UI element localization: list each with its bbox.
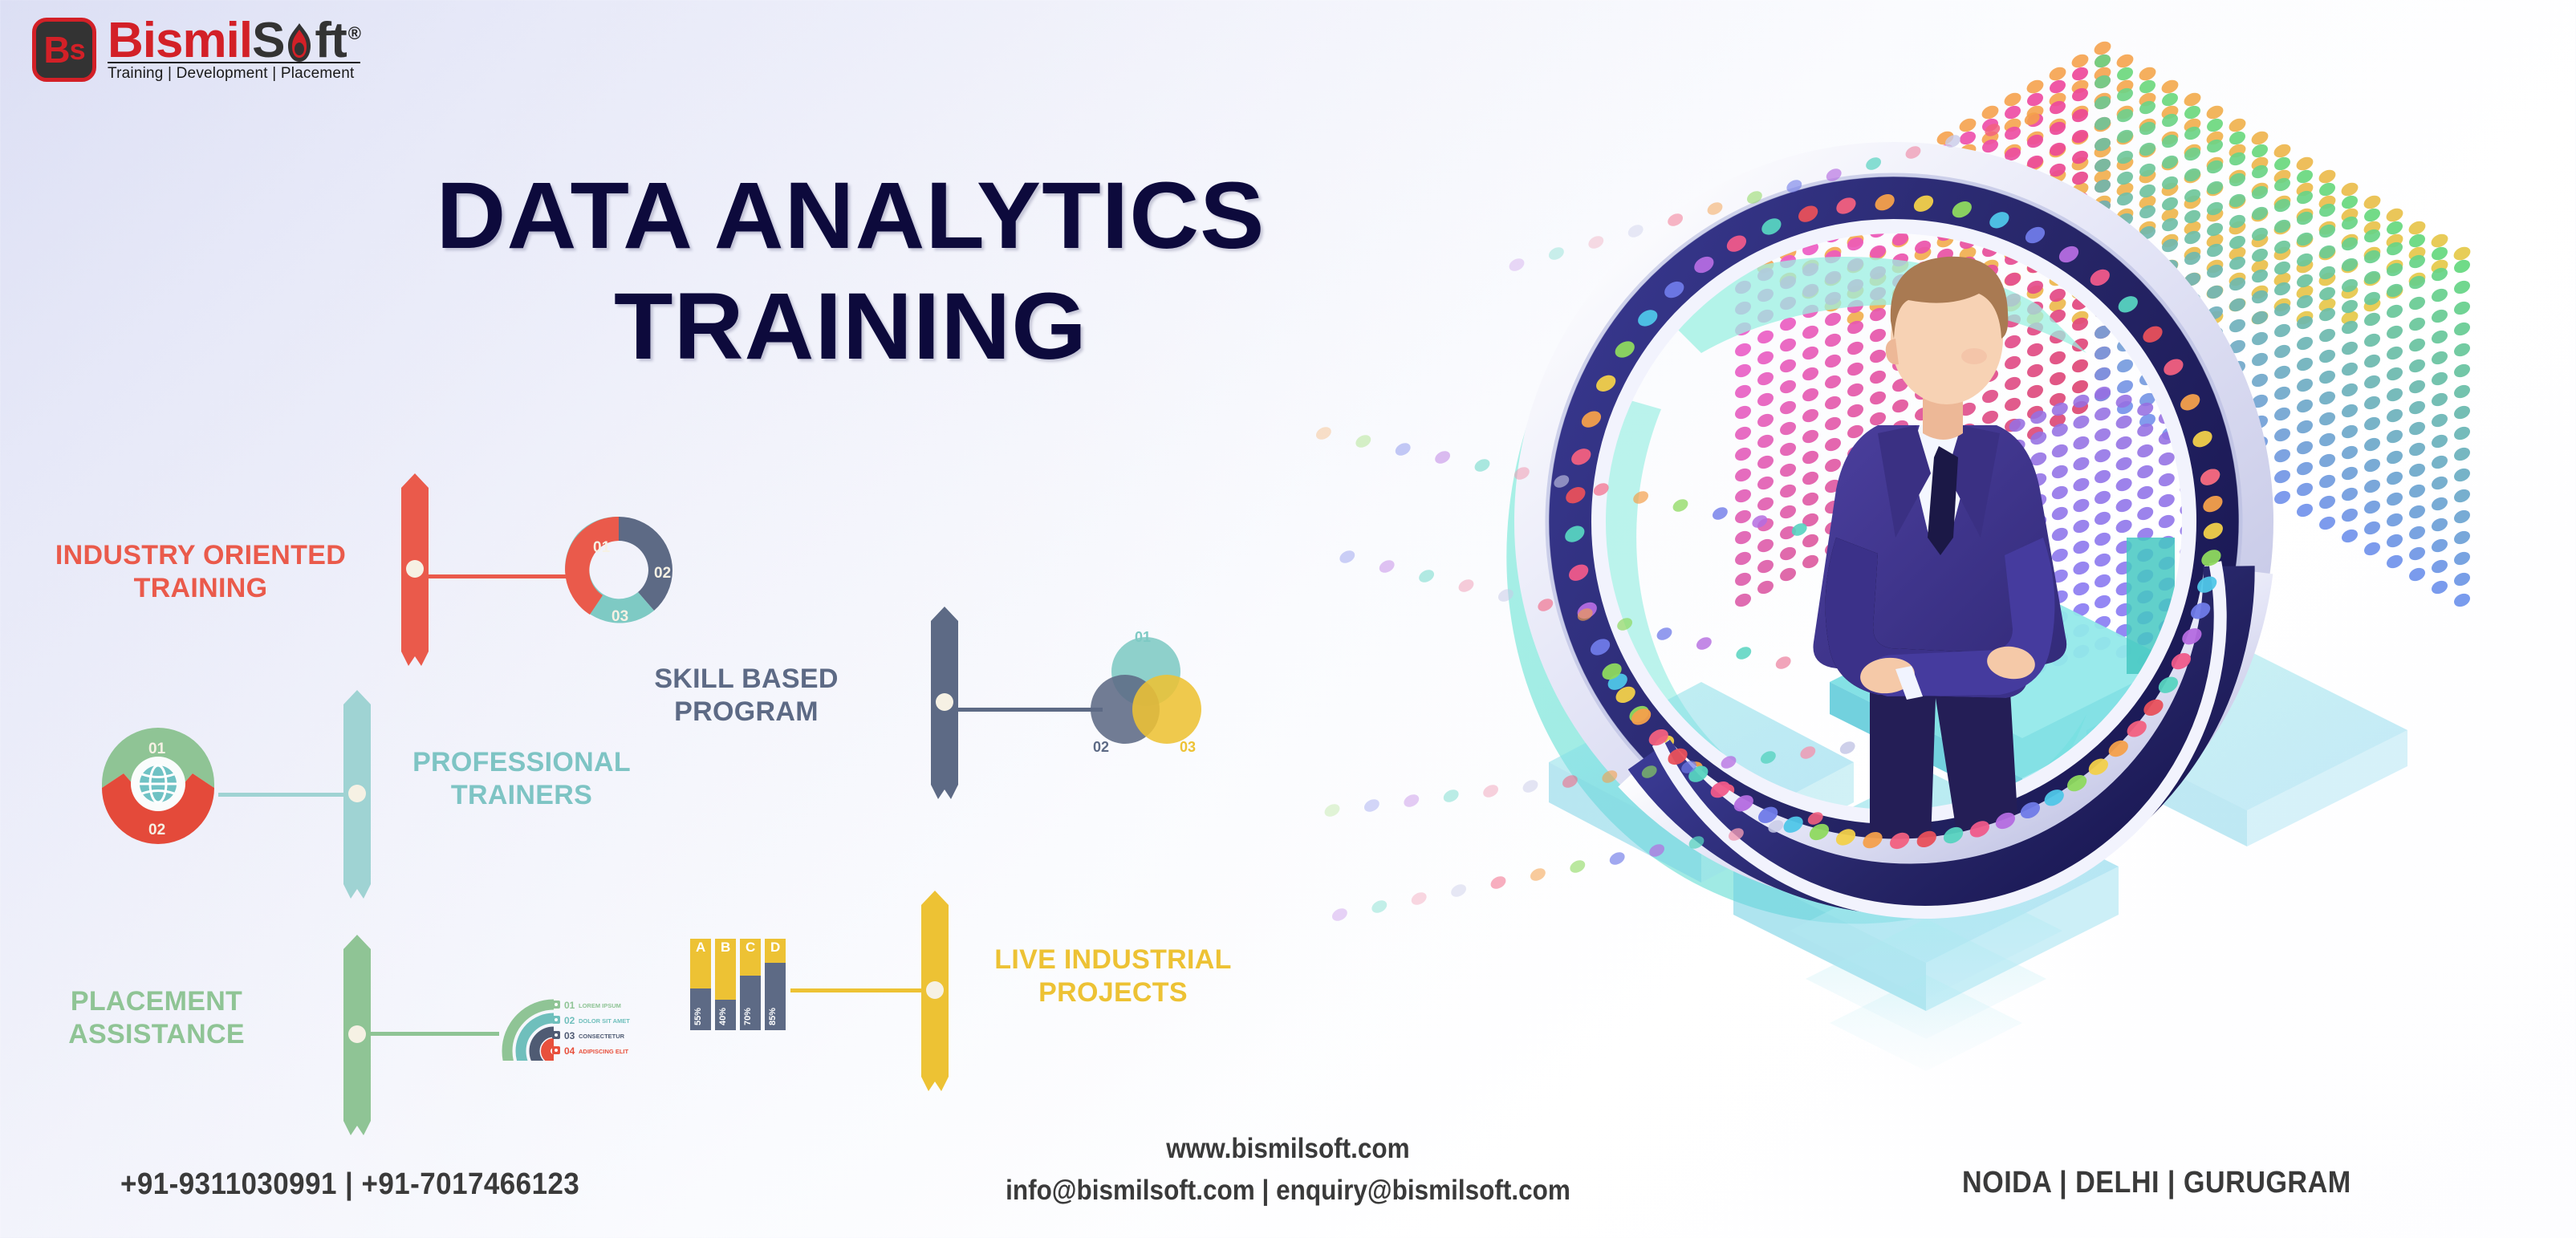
decorative-dot bbox=[2092, 489, 2112, 507]
decorative-dot bbox=[1733, 591, 1753, 610]
decorative-dot bbox=[1800, 449, 1820, 467]
decorative-dot bbox=[2317, 493, 2337, 512]
decorative-dot bbox=[1755, 432, 1775, 451]
spiral-donut-chart: 01 02 03 bbox=[555, 507, 682, 638]
decorative-dot bbox=[1473, 457, 1492, 474]
decorative-dot bbox=[2002, 396, 2022, 414]
decorative-dot bbox=[1393, 440, 1412, 458]
decorative-dot bbox=[1448, 882, 1468, 899]
decorative-dot bbox=[1316, 424, 1334, 442]
decorative-dot bbox=[2071, 497, 2091, 515]
decorative-dot bbox=[2204, 116, 2225, 135]
arc-legend-num-02: 02 bbox=[564, 1015, 575, 1026]
connector-line-placement bbox=[371, 1032, 499, 1036]
footer-phone[interactable]: +91-9311030991 | +91-7017466123 bbox=[120, 1167, 579, 1202]
decorative-dot bbox=[2362, 373, 2382, 392]
decorative-dot bbox=[2092, 572, 2112, 591]
decorative-dot bbox=[2050, 505, 2070, 523]
decorative-dot bbox=[2452, 550, 2472, 568]
decorative-dot bbox=[2384, 323, 2404, 342]
decorative-dot bbox=[2160, 77, 2180, 95]
decorative-dot bbox=[2339, 506, 2359, 525]
decorative-dot bbox=[2294, 335, 2314, 353]
brand-logo[interactable]: Bs BismilS ft® Training | Development | … bbox=[32, 18, 360, 83]
decorative-dot bbox=[2452, 299, 2472, 318]
decorative-dot bbox=[1323, 802, 1342, 819]
decorative-dot bbox=[2092, 530, 2112, 549]
decorative-dot bbox=[2407, 482, 2427, 501]
decorative-dot bbox=[2362, 477, 2382, 496]
decorative-dot bbox=[2204, 103, 2225, 121]
connector-line-skill bbox=[958, 708, 1103, 712]
decorative-dot bbox=[1587, 233, 1606, 251]
decorative-dot bbox=[2025, 362, 2045, 380]
decorative-dot bbox=[2429, 474, 2449, 493]
decorative-dot bbox=[2317, 327, 2337, 345]
banner-root: Bs BismilS ft® Training | Development | … bbox=[0, 0, 2576, 1238]
decorative-dot bbox=[2025, 341, 2045, 359]
decorative-dot bbox=[2092, 593, 2112, 611]
decorative-dot bbox=[1800, 323, 1820, 342]
decorative-dot bbox=[2071, 559, 2091, 578]
decorative-dot bbox=[1655, 625, 1674, 643]
decorative-dot bbox=[2452, 404, 2472, 422]
decorative-dot bbox=[2384, 344, 2404, 363]
decorative-dot bbox=[2272, 155, 2292, 173]
decorative-dot bbox=[2407, 503, 2427, 522]
decorative-dot bbox=[2092, 447, 2112, 465]
feature-label-line2: PROGRAM bbox=[610, 696, 883, 729]
decorative-dot bbox=[2002, 375, 2022, 393]
decorative-dot bbox=[2114, 455, 2134, 473]
ring-label-01: 01 bbox=[148, 741, 166, 757]
decorative-dot bbox=[2114, 413, 2134, 432]
decorative-dot bbox=[2160, 91, 2180, 109]
bar-label-D: D bbox=[770, 940, 780, 955]
decorative-dot bbox=[1800, 490, 1820, 509]
decorative-dot bbox=[2249, 128, 2270, 147]
decorative-dot bbox=[1432, 449, 1452, 466]
decorative-dot bbox=[2050, 463, 2070, 481]
decorative-dot bbox=[1377, 558, 1396, 575]
marker-industry-oriented-training[interactable] bbox=[401, 473, 429, 666]
decorative-dot bbox=[1441, 787, 1461, 805]
decorative-dot bbox=[2407, 378, 2427, 396]
decorative-dot bbox=[2384, 449, 2404, 467]
feature-label-placement-assistance: PLACEMENT ASSISTANCE bbox=[32, 985, 281, 1052]
decorative-dot bbox=[1778, 378, 1798, 396]
decorative-dot bbox=[2429, 286, 2449, 305]
decorative-dot bbox=[1845, 381, 1865, 400]
feature-label-line1: LIVE INDUSTRIAL bbox=[965, 944, 1262, 976]
marker-professional-trainers[interactable] bbox=[343, 690, 371, 899]
decorative-dot bbox=[1755, 349, 1775, 367]
decorative-dot bbox=[2429, 495, 2449, 513]
decorative-dot bbox=[1980, 408, 2000, 427]
decorative-dot bbox=[2362, 415, 2382, 433]
decorative-dot bbox=[2384, 553, 2404, 571]
decorative-dot bbox=[2362, 519, 2382, 538]
feature-label-line2: PROJECTS bbox=[965, 976, 1262, 1009]
decorative-dot bbox=[1822, 436, 1843, 454]
decorative-dot bbox=[2050, 442, 2070, 461]
decorative-dot bbox=[2092, 426, 2112, 444]
bar-value-C: 70% bbox=[743, 1008, 753, 1025]
decorative-dot bbox=[2227, 116, 2248, 134]
decorative-dot bbox=[2272, 447, 2292, 465]
decorative-dot bbox=[1733, 487, 1753, 505]
decorative-dot bbox=[2407, 420, 2427, 438]
decorative-dot bbox=[1800, 553, 1820, 571]
donut-label-03: 03 bbox=[611, 608, 628, 625]
marker-dot-icon bbox=[926, 981, 944, 999]
ring-label-02: 02 bbox=[148, 822, 165, 838]
decorative-dot bbox=[1822, 394, 1843, 412]
decorative-dot bbox=[1694, 635, 1713, 652]
logo-wordmark: BismilS ft® Training | Development | Pla… bbox=[108, 18, 360, 83]
decorative-dot bbox=[2071, 455, 2091, 473]
decorative-dot bbox=[1734, 644, 1753, 662]
concentric-arc-chart: 01 LOREM IPSUM 02 DOLOR SIT AMET 03 CONS… bbox=[499, 956, 645, 1065]
decorative-dot bbox=[2092, 405, 2112, 424]
decorative-dot bbox=[2429, 412, 2449, 430]
decorative-dot bbox=[2407, 399, 2427, 417]
venn-label-02: 02 bbox=[1093, 739, 1109, 755]
decorative-dot bbox=[2025, 383, 2045, 401]
decorative-dot bbox=[1845, 360, 1865, 379]
decorative-dot bbox=[2339, 444, 2359, 462]
arc-legend-label-04: ADIPISCING ELIT bbox=[579, 1048, 629, 1055]
decorative-dot bbox=[2114, 518, 2134, 536]
decorative-dot bbox=[2317, 181, 2337, 199]
decorative-dot bbox=[2384, 532, 2404, 550]
decorative-dot bbox=[2002, 333, 2022, 351]
logo-mark-s: s bbox=[70, 33, 85, 67]
decorative-dot bbox=[2047, 64, 2068, 83]
decorative-dot bbox=[1755, 412, 1775, 430]
title-line-2: TRAINING bbox=[368, 279, 1334, 374]
decorative-dot bbox=[1755, 328, 1775, 347]
decorative-dot bbox=[1528, 866, 1547, 883]
page-title: DATA ANALYTICS TRAINING bbox=[377, 168, 1324, 374]
decorative-dot bbox=[2272, 384, 2292, 403]
decorative-dot bbox=[2115, 65, 2135, 83]
decorative-dot bbox=[2429, 391, 2449, 409]
decorative-dot bbox=[2092, 468, 2112, 486]
decorative-dot bbox=[1489, 874, 1508, 891]
decorative-dot bbox=[2272, 322, 2292, 340]
decorative-dot bbox=[2115, 51, 2135, 70]
decorative-dot bbox=[2114, 497, 2134, 515]
decorative-dot bbox=[1568, 858, 1587, 875]
decorative-dot bbox=[1778, 503, 1798, 522]
decorative-dot bbox=[2362, 193, 2383, 211]
decorative-dot bbox=[2339, 423, 2359, 441]
decorative-dot bbox=[1957, 116, 1978, 134]
decorative-dot bbox=[2092, 39, 2113, 57]
decorative-dot bbox=[2137, 78, 2157, 96]
bar-label-C: C bbox=[746, 940, 755, 955]
decorative-dot bbox=[2070, 378, 2090, 396]
decorative-dot bbox=[2317, 347, 2337, 366]
decorative-dot bbox=[2272, 363, 2292, 382]
decorative-dot bbox=[1800, 386, 1820, 404]
decorative-dot bbox=[2384, 302, 2404, 321]
logo-word-ft: ft bbox=[315, 13, 346, 68]
decorative-dot bbox=[2362, 457, 2382, 475]
venn-label-03: 03 bbox=[1180, 739, 1196, 755]
decorative-dot bbox=[2025, 77, 2046, 95]
decorative-dot bbox=[2249, 309, 2269, 327]
marker-skill-based-program[interactable] bbox=[931, 607, 958, 799]
marker-placement-assistance[interactable] bbox=[343, 935, 371, 1135]
decorative-dot bbox=[1957, 129, 1977, 148]
marker-dot-icon bbox=[348, 785, 366, 802]
decorative-dot bbox=[2227, 296, 2247, 315]
decorative-dot bbox=[2317, 514, 2337, 533]
venn-label-01: 01 bbox=[1135, 629, 1151, 645]
decorative-dot bbox=[2071, 538, 2091, 557]
decorative-dot bbox=[2407, 315, 2427, 334]
decorative-dot bbox=[2339, 360, 2359, 379]
donut-label-02: 02 bbox=[654, 565, 671, 582]
feature-label-industry-oriented-training: INDUSTRY ORIENTED TRAINING bbox=[32, 539, 369, 606]
decorative-dot bbox=[2384, 386, 2404, 404]
decorative-dot bbox=[2135, 442, 2155, 461]
decorative-dot bbox=[1733, 445, 1753, 464]
decorative-dot bbox=[2407, 566, 2427, 584]
decorative-dot bbox=[2025, 91, 2045, 109]
footer-emails[interactable]: info@bismilsoft.com | enquiry@bismilsoft… bbox=[916, 1175, 1660, 1207]
decorative-dot bbox=[1800, 365, 1820, 384]
decorative-dot bbox=[1867, 327, 1887, 345]
bar-value-D: 85% bbox=[768, 1008, 778, 1025]
decorative-dot bbox=[1822, 352, 1843, 371]
decorative-dot bbox=[2227, 129, 2247, 148]
decorative-dot bbox=[1800, 469, 1820, 488]
decorative-dot bbox=[2362, 498, 2382, 517]
decorative-dot bbox=[2339, 381, 2359, 400]
decorative-dot bbox=[2429, 432, 2449, 451]
feature-label-line1: INDUSTRY ORIENTED bbox=[32, 539, 369, 572]
decorative-dot bbox=[1755, 495, 1775, 513]
decorative-dot bbox=[2384, 205, 2405, 224]
marker-dot-icon bbox=[348, 1025, 366, 1043]
decorative-dot bbox=[1755, 391, 1775, 409]
arc-legend-label-03: CONSECTETUR bbox=[579, 1033, 625, 1040]
bar-label-A: A bbox=[696, 940, 705, 955]
feature-label-line2: TRAINING bbox=[32, 572, 369, 605]
decorative-dot bbox=[2452, 383, 2472, 401]
decorative-dot bbox=[2339, 465, 2359, 483]
decorative-dot bbox=[1733, 362, 1753, 380]
decorative-dot bbox=[2407, 440, 2427, 459]
decorative-dot bbox=[1507, 256, 1526, 274]
decorative-dot bbox=[1521, 777, 1540, 795]
decorative-dot bbox=[1822, 415, 1843, 433]
decorative-dot bbox=[2429, 453, 2449, 472]
decorative-dot bbox=[2317, 473, 2337, 491]
decorative-dot bbox=[2452, 424, 2472, 443]
decorative-dot bbox=[2050, 484, 2070, 502]
decorative-dot bbox=[1778, 420, 1798, 438]
decorative-dot bbox=[2362, 394, 2382, 412]
decorative-dot bbox=[1733, 341, 1753, 359]
decorative-dot bbox=[2156, 471, 2176, 489]
decorative-dot bbox=[2135, 484, 2155, 502]
percentage-bar-chart: A 55% B 40% C 70% D 85% bbox=[689, 921, 790, 1037]
decorative-dot bbox=[2249, 351, 2269, 369]
decorative-dot bbox=[2294, 376, 2314, 395]
decorative-dot bbox=[2452, 466, 2472, 485]
decorative-dot bbox=[2294, 397, 2314, 416]
marker-live-industrial-projects[interactable] bbox=[921, 891, 949, 1091]
decorative-dot bbox=[2002, 270, 2022, 289]
decorative-dot bbox=[1626, 222, 1645, 240]
decorative-dot bbox=[2137, 64, 2158, 83]
decorative-dot bbox=[1755, 474, 1775, 493]
registered-trademark-icon: ® bbox=[348, 23, 360, 43]
decorative-dot bbox=[2249, 371, 2269, 390]
decorative-dot bbox=[2317, 368, 2337, 387]
decorative-dot bbox=[1362, 797, 1381, 814]
decorative-dot bbox=[2294, 355, 2314, 374]
arc-legend-label-01: LOREM IPSUM bbox=[579, 1002, 621, 1009]
decorative-dot bbox=[2384, 219, 2404, 237]
decorative-dot bbox=[1980, 103, 2001, 121]
decorative-dot bbox=[2429, 578, 2449, 597]
decorative-dot bbox=[2407, 232, 2427, 250]
decorative-dot bbox=[2384, 365, 2404, 384]
decorative-dot bbox=[2294, 501, 2314, 520]
decorative-dot bbox=[1800, 344, 1820, 363]
decorative-dot bbox=[1755, 578, 1775, 597]
decorative-dot bbox=[1778, 482, 1798, 501]
decorative-dot bbox=[2047, 349, 2067, 367]
decorative-dot bbox=[1778, 399, 1798, 417]
decorative-dot bbox=[2071, 476, 2091, 494]
decorative-dot bbox=[2071, 580, 2091, 599]
decorative-dot bbox=[2452, 508, 2472, 526]
decorative-dot bbox=[1774, 654, 1793, 672]
decorative-dot bbox=[2317, 452, 2337, 470]
decorative-dot bbox=[2362, 352, 2382, 371]
decorative-dot bbox=[2227, 317, 2247, 335]
decorative-dot bbox=[2071, 413, 2091, 432]
decorative-dot bbox=[2182, 104, 2202, 122]
feature-label-skill-based-program: SKILL BASED PROGRAM bbox=[610, 663, 883, 729]
decorative-dot bbox=[2384, 490, 2404, 509]
decorative-dot bbox=[2317, 167, 2338, 185]
decorative-dot bbox=[2429, 558, 2449, 576]
decorative-dot bbox=[1330, 906, 1349, 923]
decorative-dot bbox=[1822, 331, 1843, 350]
decorative-dot bbox=[1755, 370, 1775, 388]
decorative-dot bbox=[2317, 410, 2337, 428]
decorative-dot bbox=[2429, 537, 2449, 555]
decorative-dot bbox=[1755, 453, 1775, 472]
decorative-dot bbox=[2294, 481, 2314, 499]
decorative-dot bbox=[1980, 388, 2000, 406]
decorative-dot bbox=[1845, 339, 1865, 358]
decorative-dot bbox=[2429, 370, 2449, 388]
decorative-dot bbox=[2272, 405, 2292, 424]
decorative-dot bbox=[2272, 426, 2292, 444]
arc-legend-num-01: 01 bbox=[564, 1000, 575, 1011]
decorative-dot bbox=[2339, 180, 2360, 198]
decorative-dot bbox=[2362, 436, 2382, 454]
decorative-dot bbox=[1838, 739, 1857, 757]
decorative-dot bbox=[2047, 78, 2067, 96]
decorative-dot bbox=[1710, 505, 1729, 522]
decorative-dot bbox=[2156, 513, 2176, 531]
decorative-dot bbox=[2339, 527, 2359, 546]
decorative-dot bbox=[2047, 370, 2067, 388]
decorative-dot bbox=[2092, 344, 2112, 363]
decorative-dot bbox=[2429, 516, 2449, 534]
decorative-dot bbox=[2407, 357, 2427, 375]
decorative-dot bbox=[2317, 389, 2337, 408]
decorative-dot bbox=[1778, 566, 1798, 584]
decorative-dot bbox=[2204, 283, 2225, 302]
arc-legend-num-04: 04 bbox=[564, 1045, 575, 1057]
decorative-dot bbox=[2429, 245, 2449, 263]
arc-legend-num-03: 03 bbox=[564, 1030, 575, 1041]
decorative-dot bbox=[2114, 434, 2134, 453]
decorative-dot bbox=[1867, 368, 1887, 387]
decorative-dot bbox=[1481, 782, 1500, 800]
decorative-dot bbox=[2182, 90, 2203, 108]
decorative-dot bbox=[1890, 397, 1910, 416]
decorative-dot bbox=[2362, 331, 2382, 350]
footer-contact: www.bismilsoft.com info@bismilsoft.com |… bbox=[875, 1133, 1701, 1207]
decorative-dot bbox=[1778, 440, 1798, 459]
decorative-dot bbox=[2092, 551, 2112, 570]
decorative-dot bbox=[1733, 508, 1753, 526]
footer-website[interactable]: www.bismilsoft.com bbox=[916, 1133, 1660, 1165]
decorative-dot bbox=[1733, 383, 1753, 401]
bar-value-A: 55% bbox=[693, 1008, 703, 1025]
decorative-dot bbox=[1733, 570, 1753, 589]
decorative-dot bbox=[2114, 476, 2134, 494]
decorative-dot bbox=[2156, 492, 2176, 510]
decorative-dot bbox=[2092, 365, 2112, 384]
decorative-dot bbox=[2407, 294, 2427, 313]
decorative-dot bbox=[2135, 505, 2155, 523]
donut-label-01: 01 bbox=[593, 539, 611, 556]
decorative-dot bbox=[1733, 466, 1753, 485]
decorative-dot bbox=[2272, 343, 2292, 361]
decorative-dot bbox=[1316, 538, 1318, 556]
decorative-dot bbox=[2071, 518, 2091, 536]
decorative-dot bbox=[2002, 90, 2023, 108]
decorative-dot bbox=[2272, 468, 2292, 486]
connector-line-live bbox=[790, 988, 921, 992]
decorative-dot bbox=[1607, 850, 1627, 867]
decorative-dot bbox=[2452, 487, 2472, 505]
decorative-dot bbox=[1457, 577, 1476, 595]
decorative-dot bbox=[2452, 570, 2472, 589]
decorative-dot bbox=[2294, 460, 2314, 478]
decorative-dot bbox=[2452, 278, 2472, 297]
decorative-dot bbox=[2452, 244, 2472, 262]
decorative-dot bbox=[2429, 349, 2449, 367]
decorative-dot bbox=[1778, 336, 1798, 355]
decorative-dot bbox=[2452, 320, 2472, 339]
decorative-dot bbox=[1800, 532, 1820, 550]
decorative-dot bbox=[2452, 445, 2472, 464]
decorative-dot bbox=[2384, 469, 2404, 488]
